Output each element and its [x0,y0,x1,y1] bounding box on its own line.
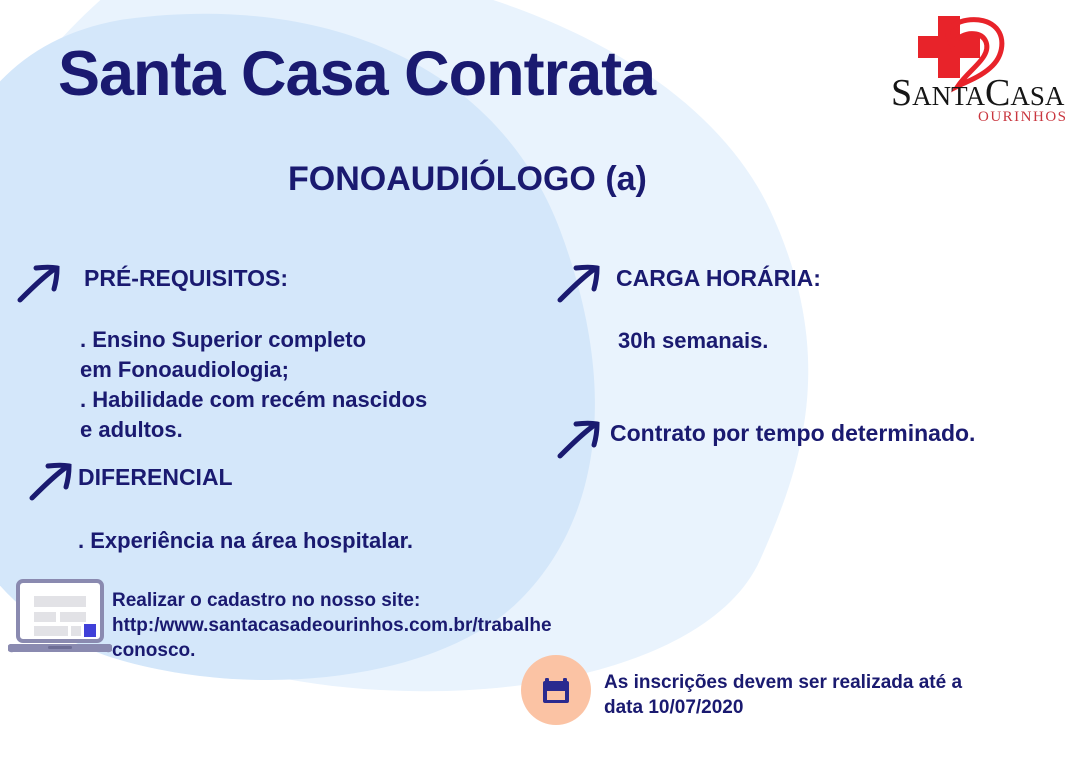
deadline-badge [521,655,591,725]
calendar-icon [539,673,573,707]
arrow-up-right-icon [556,262,602,304]
prerequisites-heading: PRÉ-REQUISITOS: [84,265,288,292]
contrato-heading: Contrato por tempo determinado. [610,420,975,447]
logo-city: OURINHOS [978,109,1068,125]
santa-casa-logo: SANTACASA OURINHOS [886,8,1072,126]
arrow-up-right-icon [16,262,62,304]
job-posting-poster: Santa Casa Contrata FONOAUDIÓLOGO (a) SA… [0,0,1074,770]
carga-horaria-heading: CARGA HORÁRIA: [616,265,821,292]
deadline-text: As inscrições devem ser realizada até a … [604,670,962,720]
laptop-icon [8,578,112,658]
carga-horaria-body: 30h semanais. [618,326,768,356]
arrow-up-right-icon [28,460,74,502]
diferencial-body: . Experiência na área hospitalar. [78,526,413,556]
prerequisites-body: . Ensino Superior completo em Fonoaudiol… [80,325,427,445]
diferencial-heading: DIFERENCIAL [78,464,233,491]
application-site-text[interactable]: Realizar o cadastro no nosso site: http:… [112,588,552,663]
arrow-up-right-icon [556,418,602,460]
page-title: Santa Casa Contrata [58,38,655,110]
job-position-subtitle: FONOAUDIÓLOGO (a) [288,160,647,199]
